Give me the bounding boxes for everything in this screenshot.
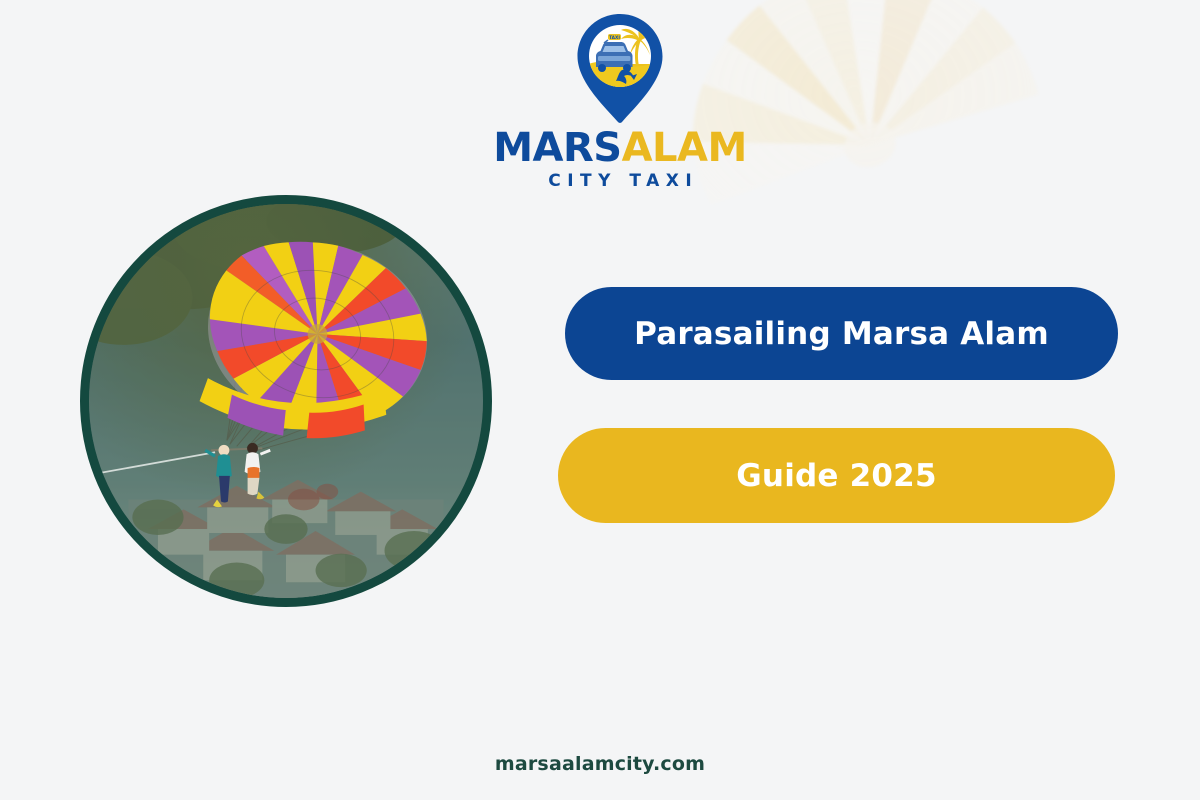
brand-tagline: CITY TAXI (542, 171, 699, 191)
svg-text:TAXI: TAXI (609, 35, 620, 41)
subtitle-banner: Guide 2025 (558, 428, 1115, 523)
brand-logo: TAXI MARSALAM CITY TAXI (505, 12, 735, 191)
brand-wordmark: MARSALAM (493, 128, 747, 168)
brand-wordmark-mars: MARS (493, 125, 621, 171)
parasailing-photo (80, 195, 492, 607)
footer-website-url: marsaalamcity.com (0, 753, 1200, 775)
map-pin-taxi-palm-dolphin-icon: TAXI (574, 12, 666, 124)
title-banner: Parasailing Marsa Alam (565, 287, 1118, 380)
brand-wordmark-alam: ALAM (622, 125, 747, 171)
